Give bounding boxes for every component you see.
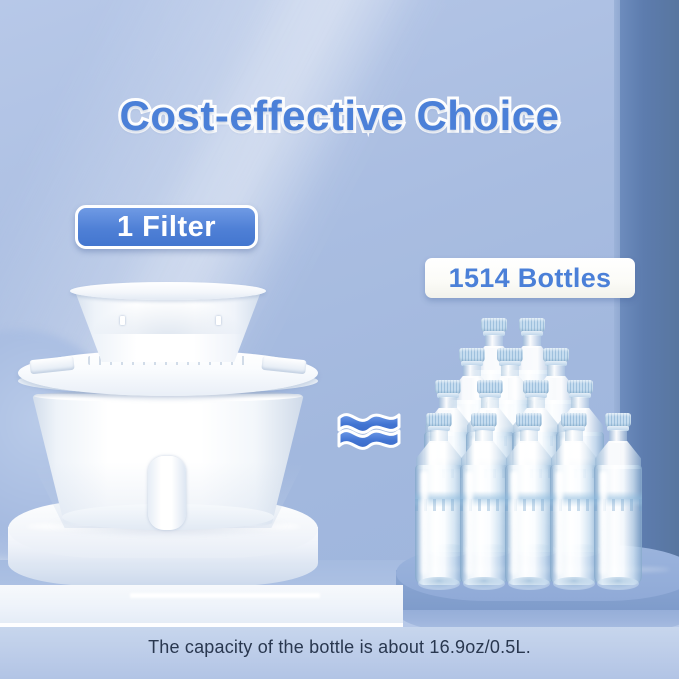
- badge-one-filter-label: 1 Filter: [117, 211, 216, 244]
- bottle-cap: [561, 413, 587, 427]
- bottle-gloss: [466, 471, 473, 575]
- bottle-cap: [471, 413, 497, 427]
- bottle-gloss: [511, 471, 518, 575]
- bottle-cap: [435, 380, 461, 394]
- product-marketing-image: Cost-effective Choice 1 Filter 1514 Bott…: [0, 0, 679, 679]
- bottle-gloss: [421, 471, 428, 575]
- bottle-cap: [516, 413, 542, 427]
- filter-tab-knob: [148, 456, 186, 530]
- bottle-cap: [519, 318, 545, 332]
- bottle-cap: [459, 348, 485, 362]
- bottle-cap: [523, 380, 549, 394]
- wave-approx-icon: [336, 405, 402, 457]
- bottle-cap: [605, 413, 631, 427]
- bottle-base: [553, 577, 595, 590]
- filter-top-cap: [70, 282, 266, 300]
- capacity-caption: The capacity of the bottle is about 16.9…: [0, 637, 679, 658]
- bottle-cap: [426, 413, 452, 427]
- badge-one-filter: 1 Filter: [75, 205, 258, 249]
- bottle-gloss: [600, 471, 607, 575]
- bottle-base: [418, 577, 460, 590]
- bottle-cap: [567, 380, 593, 394]
- filter-slot-left: [120, 316, 125, 325]
- badge-bottle-count: 1514 Bottles: [425, 258, 635, 298]
- badge-bottle-count-label: 1514 Bottles: [449, 263, 612, 294]
- filter-neck-shading: [76, 294, 260, 334]
- page-title: Cost-effective Choice: [0, 92, 679, 140]
- bottle-cap: [481, 318, 507, 332]
- bottle-base: [597, 577, 639, 590]
- filter-slot-right: [216, 316, 221, 325]
- water-bottle-pyramid: [420, 318, 655, 580]
- bottle-cap: [497, 348, 523, 362]
- bottle-cap: [543, 348, 569, 362]
- bottle-cap: [477, 380, 503, 394]
- floor-ledge-highlight: [130, 593, 320, 598]
- bottle-gloss: [556, 471, 563, 575]
- bottle-base: [508, 577, 550, 590]
- bottle-base: [463, 577, 505, 590]
- water-filter-cartridge: [18, 282, 318, 522]
